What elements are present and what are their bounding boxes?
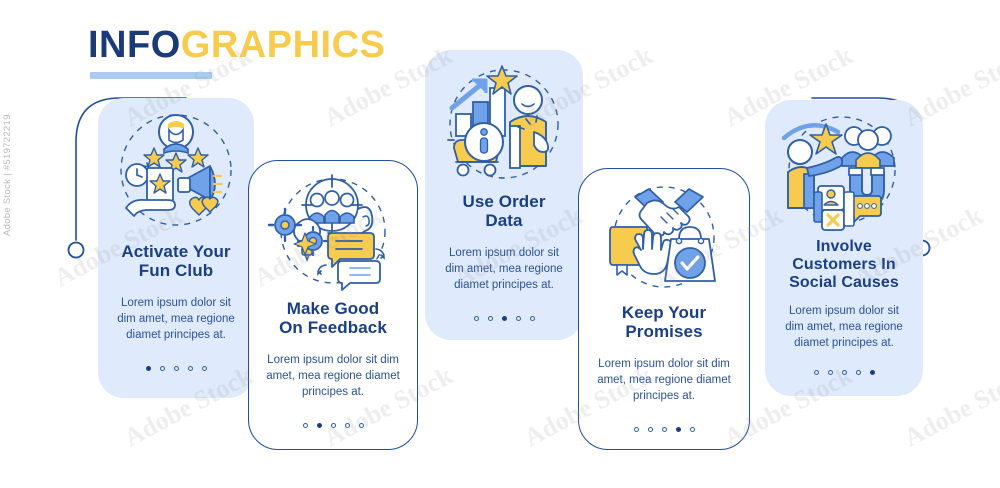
- stock-watermark-label: Adobe Stock | #519722219: [2, 114, 13, 236]
- infographic-canvas: INFOGRAPHICS: [0, 0, 1000, 488]
- step-title-3: Use Order Data: [462, 192, 545, 231]
- dot-4[interactable]: [856, 370, 861, 375]
- dot-2[interactable]: [317, 423, 322, 428]
- dot-1[interactable]: [303, 423, 308, 428]
- dot-2[interactable]: [648, 427, 653, 432]
- step-card-5[interactable]: Involve Customers In Social Causes Lorem…: [765, 100, 923, 396]
- page-title: INFOGRAPHICS: [88, 26, 385, 64]
- step-title-4: Keep Your Promises: [622, 303, 706, 342]
- dot-3[interactable]: [842, 370, 847, 375]
- dot-4[interactable]: [676, 427, 681, 432]
- dot-1[interactable]: [474, 316, 479, 321]
- connector-endpoint-left: [69, 243, 84, 258]
- step-body-4: Lorem ipsum dolor sit dim amet, mea regi…: [579, 356, 749, 405]
- step-dots-2[interactable]: [303, 423, 364, 428]
- title-secondary: GRAPHICS: [181, 24, 386, 66]
- dot-3[interactable]: [174, 366, 179, 371]
- dot-5[interactable]: [870, 370, 875, 375]
- dot-2[interactable]: [160, 366, 165, 371]
- step-body-2: Lorem ipsum dolor sit dim amet, mea regi…: [249, 352, 417, 401]
- dot-2[interactable]: [828, 370, 833, 375]
- social-causes-icon: [765, 110, 923, 234]
- title-underline-rule: [90, 72, 212, 79]
- dot-4[interactable]: [345, 423, 350, 428]
- step-body-5: Lorem ipsum dolor sit dim amet, mea regi…: [765, 303, 923, 352]
- step-card-1[interactable]: Activate Your Fun Club Lorem ipsum dolor…: [98, 98, 254, 398]
- step-title-1: Activate Your Fun Club: [121, 242, 230, 281]
- feedback-icon: [249, 173, 417, 293]
- fun-club-icon: [98, 108, 254, 236]
- order-data-icon: [425, 62, 583, 186]
- step-card-2[interactable]: Make Good On Feedback Lorem ipsum dolor …: [248, 160, 418, 450]
- dot-5[interactable]: [530, 316, 535, 321]
- dot-5[interactable]: [690, 427, 695, 432]
- step-dots-4[interactable]: [634, 427, 695, 432]
- dot-5[interactable]: [202, 366, 207, 371]
- step-card-3[interactable]: Use Order Data Lorem ipsum dolor sit dim…: [425, 50, 583, 340]
- step-dots-5[interactable]: [814, 370, 875, 375]
- dot-5[interactable]: [359, 423, 364, 428]
- dot-4[interactable]: [516, 316, 521, 321]
- keep-promises-icon: [579, 183, 749, 295]
- title-primary: INFO: [88, 24, 181, 66]
- dot-1[interactable]: [634, 427, 639, 432]
- step-card-4[interactable]: Keep Your Promises Lorem ipsum dolor sit…: [578, 168, 750, 450]
- dot-1[interactable]: [146, 366, 151, 371]
- step-title-2: Make Good On Feedback: [279, 299, 387, 338]
- dot-3[interactable]: [502, 316, 507, 321]
- step-dots-3[interactable]: [474, 316, 535, 321]
- step-dots-1[interactable]: [146, 366, 207, 371]
- dot-1[interactable]: [814, 370, 819, 375]
- dot-3[interactable]: [331, 423, 336, 428]
- step-body-1: Lorem ipsum dolor sit dim amet, mea regi…: [98, 295, 254, 344]
- dot-4[interactable]: [188, 366, 193, 371]
- dot-3[interactable]: [662, 427, 667, 432]
- step-title-5: Involve Customers In Social Causes: [789, 238, 899, 293]
- dot-2[interactable]: [488, 316, 493, 321]
- step-body-3: Lorem ipsum dolor sit dim amet, mea regi…: [425, 245, 583, 294]
